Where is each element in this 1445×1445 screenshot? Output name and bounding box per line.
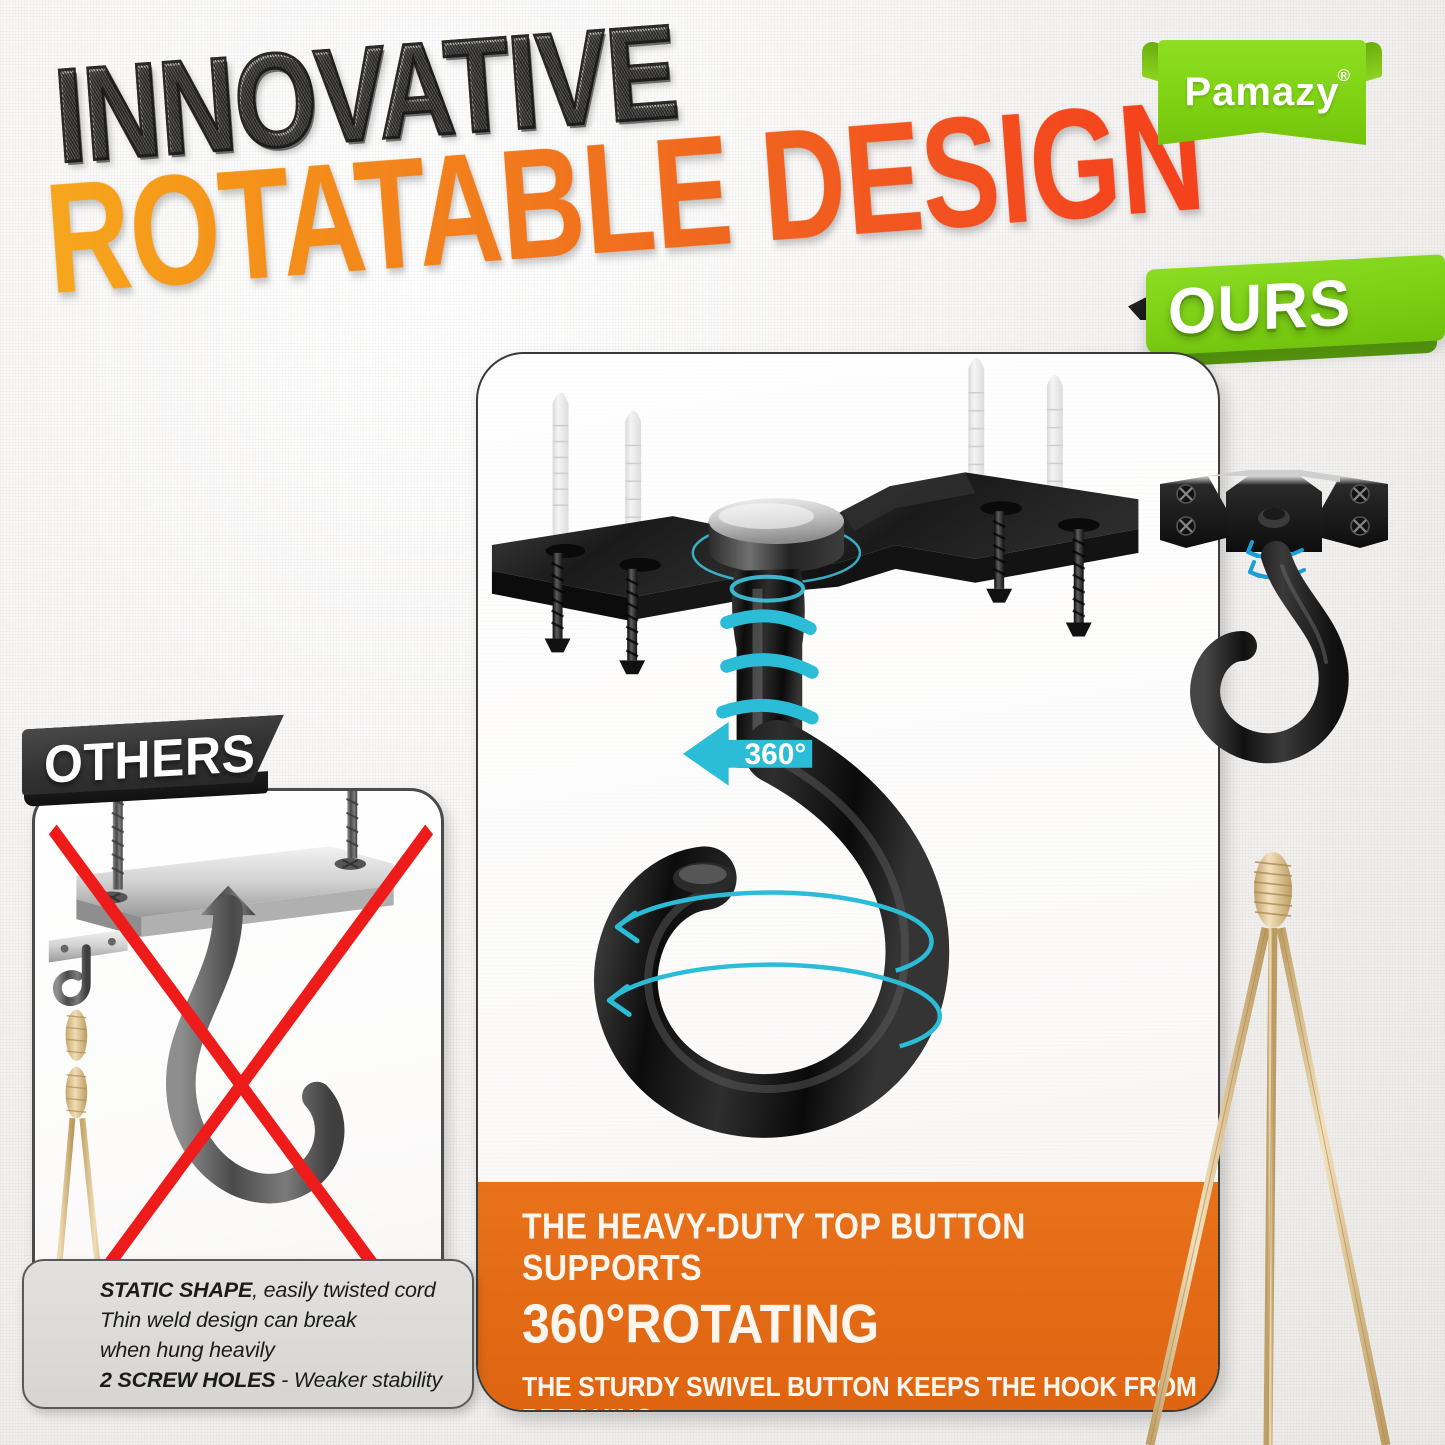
brand-name-text: Pamazy (1158, 70, 1366, 115)
mounting-plate-left-wing (492, 516, 794, 620)
others-caption-static-shape: STATIC SHAPE (100, 1278, 252, 1302)
screw-group (545, 511, 1092, 674)
badge-ours-label: OURS (1168, 261, 1437, 350)
badge-others-label: OTHERS (44, 722, 255, 795)
rotation-orbit-indicators (609, 893, 940, 1047)
callout-line-2: 360°ROTATING (522, 1292, 1198, 1356)
rotation-spiral-indicator (723, 616, 813, 718)
others-caption-line-1-rest: , easily twisted cord (252, 1278, 435, 1302)
hook-stem (732, 569, 805, 768)
callout-line-1: THE HEAVY-DUTY TOP BUTTON SUPPORTS (522, 1206, 1198, 1289)
others-caption-line-1: STATIC SHAPE, easily twisted cord (100, 1275, 462, 1305)
wall-anchor-group-left (553, 393, 642, 565)
hook-body (626, 752, 918, 1106)
screw-1 (545, 553, 571, 652)
others-mounting-plate (76, 846, 393, 937)
others-caption-line-4-rest: - Weaker stability (275, 1368, 442, 1392)
others-caption-line-2: Thin weld design can break (100, 1305, 462, 1335)
others-small-hook (49, 929, 128, 1002)
others-caption-line-3: when hung heavily (100, 1335, 462, 1365)
registered-mark-icon: ® (1337, 66, 1350, 86)
brand-logo-banner: Pamazy ® (1158, 40, 1366, 145)
infographic-canvas: INNOVATIVE ROTATABLE DESIGN Pamazy ® OUR… (0, 0, 1445, 1445)
headline-block: INNOVATIVE ROTATABLE DESIGN (0, 0, 1120, 310)
callout-line-3: THE STURDY SWIVEL BUTTON KEEPS THE HOOK … (522, 1372, 1198, 1412)
screw-3 (986, 511, 1012, 603)
others-caption-screw-holes: 2 SCREW HOLES (100, 1368, 275, 1392)
swivel-button (693, 498, 860, 583)
rotation-arrow-360: 360° (683, 722, 812, 786)
screw-4 (1066, 529, 1092, 636)
badge-others: OTHERS (14, 716, 304, 820)
ours-product-panel: 360° (476, 352, 1220, 1412)
others-caption-box: STATIC SHAPE, easily twisted cord Thin w… (22, 1259, 474, 1409)
screw-2 (619, 569, 645, 674)
others-welded-hook (181, 886, 330, 1189)
mounting-plate-right-wing (794, 472, 1138, 590)
rotation-label-360: 360° (745, 738, 807, 771)
ours-callout-band: THE HEAVY-DUTY TOP BUTTON SUPPORTS 360°R… (478, 1182, 1218, 1410)
others-caption-line-4: 2 SCREW HOLES - Weaker stability (100, 1365, 462, 1395)
wall-anchor-group-right (968, 358, 1062, 536)
